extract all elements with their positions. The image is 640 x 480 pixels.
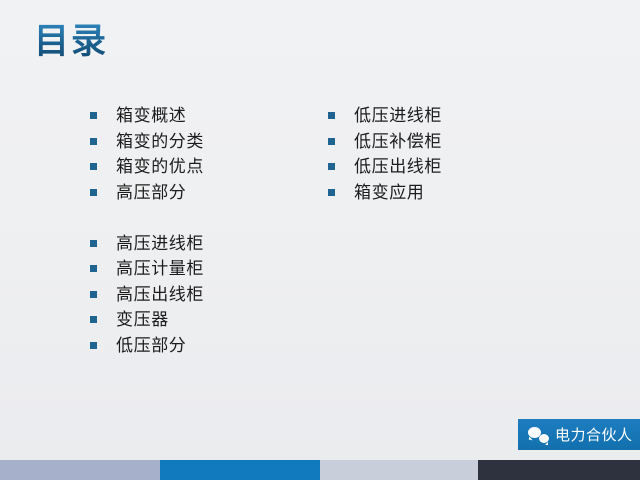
bullet-icon	[90, 316, 97, 323]
segment-blue	[160, 460, 320, 480]
list-item[interactable]: 低压部分	[90, 333, 204, 359]
list-item-label: 高压出线柜	[116, 286, 204, 303]
list-item[interactable]: 低压进线柜	[328, 103, 442, 129]
wechat-badge[interactable]: 电力合伙人	[518, 419, 640, 450]
bullet-icon	[328, 189, 335, 196]
bullet-icon	[328, 163, 335, 170]
list-item-label: 变压器	[116, 311, 169, 328]
page-title: 目录	[34, 22, 108, 62]
list-item[interactable]: 高压计量柜	[90, 256, 204, 282]
list-item[interactable]: 箱变的分类	[90, 129, 204, 155]
bullet-icon	[90, 112, 97, 119]
bullet-icon	[90, 163, 97, 170]
list-item-label: 低压部分	[116, 337, 186, 354]
list-item-label: 箱变的优点	[116, 158, 204, 175]
slide: 目录 箱变概述 箱变的分类 箱变的优点 高压部分 高压进线柜	[0, 0, 640, 480]
list-item-label: 低压出线柜	[354, 158, 442, 175]
toc-column-right: 低压进线柜 低压补偿柜 低压出线柜 箱变应用	[328, 103, 442, 205]
bullet-icon	[328, 138, 335, 145]
list-item[interactable]: 低压出线柜	[328, 154, 442, 180]
table-of-contents: 箱变概述 箱变的分类 箱变的优点 高压部分 高压进线柜 高压计量柜	[0, 103, 640, 393]
bottom-accent-bar	[0, 460, 640, 480]
bullet-icon	[90, 189, 97, 196]
list-item-label: 低压补偿柜	[354, 133, 442, 150]
list-item-label: 箱变应用	[354, 184, 424, 201]
list-item[interactable]: 低压补偿柜	[328, 129, 442, 155]
list-spacer	[90, 205, 204, 231]
list-item[interactable]: 箱变的优点	[90, 154, 204, 180]
toc-column-left: 箱变概述 箱变的分类 箱变的优点 高压部分 高压进线柜 高压计量柜	[90, 103, 204, 358]
bullet-icon	[90, 342, 97, 349]
list-item[interactable]: 箱变概述	[90, 103, 204, 129]
wechat-icon	[528, 427, 548, 443]
bullet-icon	[90, 291, 97, 298]
list-item-label: 高压计量柜	[116, 260, 204, 277]
segment-pale	[320, 460, 478, 480]
list-item[interactable]: 变压器	[90, 307, 204, 333]
list-item-label: 高压进线柜	[116, 235, 204, 252]
bullet-icon	[328, 112, 335, 119]
list-item-label: 高压部分	[116, 184, 186, 201]
segment-navy	[478, 460, 640, 480]
bullet-icon	[90, 240, 97, 247]
list-item[interactable]: 高压进线柜	[90, 231, 204, 257]
list-item[interactable]: 箱变应用	[328, 180, 442, 206]
list-item[interactable]: 高压出线柜	[90, 282, 204, 308]
wechat-badge-label: 电力合伙人	[555, 424, 633, 445]
bullet-icon	[90, 138, 97, 145]
list-item-label: 箱变的分类	[116, 133, 204, 150]
segment-lavender	[0, 460, 160, 480]
list-item-label: 低压进线柜	[354, 107, 442, 124]
list-item[interactable]: 高压部分	[90, 180, 204, 206]
bullet-icon	[90, 265, 97, 272]
list-item-label: 箱变概述	[116, 107, 186, 124]
